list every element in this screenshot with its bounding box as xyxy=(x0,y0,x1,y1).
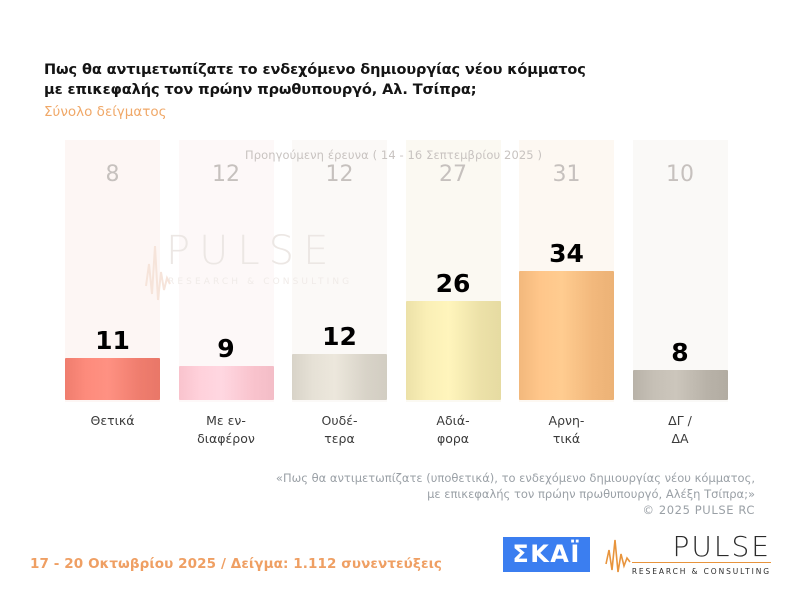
category-labels: ΘετικάΜε εν-διαφέρονΟυδέ-τεραΑδιά-φοραΑρ… xyxy=(0,412,787,462)
category-label-line: Με εν- xyxy=(171,412,281,430)
poll-chart-page: Πως θα αντιμετωπίζατε το ενδεχόμενο δημι… xyxy=(0,0,787,589)
footnote-line2: με επικεφαλής τον πρώην πρωθυπουργό, Αλέ… xyxy=(235,486,755,502)
category-label-line: ΔΓ / xyxy=(625,412,735,430)
previous-value-label: 12 xyxy=(179,162,274,187)
category-label-line: ΔΑ xyxy=(625,430,735,448)
category-label-line: Θετικά xyxy=(58,412,168,430)
waveform-icon xyxy=(604,536,634,576)
survey-date-sample: 17 - 20 Οκτωβρίου 2025 / Δείγμα: 1.112 σ… xyxy=(30,556,442,572)
bar-chart: PULSE RESEARCH & CONSULTING Προηγούμενη … xyxy=(0,140,787,402)
bar-fill xyxy=(406,301,501,400)
category-label-line: Αρνη- xyxy=(512,412,622,430)
pulse-logo: PULSE RESEARCH & CONSULTING xyxy=(606,532,771,576)
bar-value-label: 9 xyxy=(179,336,274,362)
category-label-line: τερα xyxy=(285,430,395,448)
bar-value-label: 26 xyxy=(406,271,501,297)
bar[interactable] xyxy=(406,301,501,400)
previous-value-label: 27 xyxy=(406,162,501,187)
previous-value-label: 8 xyxy=(65,162,160,187)
bar-value-label: 8 xyxy=(633,340,728,366)
pulse-logo-rule xyxy=(632,562,771,563)
footnote-line1: «Πως θα αντιμετωπίζατε (υποθετικά), το ε… xyxy=(235,470,755,486)
category-label-line: τικά xyxy=(512,430,622,448)
category-label: Ουδέ-τερα xyxy=(285,412,395,448)
page-title-line2: με επικεφαλής τον πρώην πρωθυπουργό, Αλ.… xyxy=(44,80,644,100)
previous-survey-label: Προηγούμενη έρευνα ( 14 - 16 Σεπτεμβρίου… xyxy=(245,148,542,162)
bar[interactable] xyxy=(179,366,274,400)
page-title-line1: Πως θα αντιμετωπίζατε το ενδεχόμενο δημι… xyxy=(44,60,644,80)
category-label-line: φορα xyxy=(398,430,508,448)
category-label-line: Αδιά- xyxy=(398,412,508,430)
footnote: «Πως θα αντιμετωπίζατε (υποθετικά), το ε… xyxy=(235,470,755,518)
bar-value-label: 34 xyxy=(519,241,614,267)
bar-value-label: 11 xyxy=(65,328,160,354)
category-label: Αδιά-φορα xyxy=(398,412,508,448)
skai-logo: ΣΚΑΪ xyxy=(503,537,590,572)
previous-value-label: 10 xyxy=(633,162,728,187)
bar-fill xyxy=(292,354,387,400)
skai-logo-text: ΣΚΑΪ xyxy=(512,540,581,568)
page-subtitle: Σύνολο δείγματος xyxy=(44,104,644,121)
category-label: Θετικά xyxy=(58,412,168,430)
bar-value-label: 12 xyxy=(292,324,387,350)
category-label: Αρνη-τικά xyxy=(512,412,622,448)
bar[interactable] xyxy=(633,370,728,400)
bar[interactable] xyxy=(292,354,387,400)
category-label-line: Ουδέ- xyxy=(285,412,395,430)
previous-value-label: 12 xyxy=(292,162,387,187)
logos-group: ΣΚΑΪ PULSE RESEARCH & CONSULTING xyxy=(503,532,771,576)
copyright-text: © 2025 PULSE RC xyxy=(235,502,755,518)
pulse-logo-subtext: RESEARCH & CONSULTING xyxy=(632,567,771,576)
bar-fill xyxy=(633,370,728,400)
category-label: ΔΓ /ΔΑ xyxy=(625,412,735,448)
pulse-logo-text: PULSE xyxy=(673,532,771,561)
previous-survey-header: Προηγούμενη έρευνα ( 14 - 16 Σεπτεμβρίου… xyxy=(0,144,787,163)
bar-fill xyxy=(65,358,160,400)
bar-fill xyxy=(179,366,274,400)
previous-value-label: 31 xyxy=(519,162,614,187)
category-label: Με εν-διαφέρον xyxy=(171,412,281,448)
bar-fill xyxy=(519,271,614,400)
category-label-line: διαφέρον xyxy=(171,430,281,448)
bar[interactable] xyxy=(519,271,614,400)
bar[interactable] xyxy=(65,358,160,400)
title-block: Πως θα αντιμετωπίζατε το ενδεχόμενο δημι… xyxy=(44,60,644,121)
